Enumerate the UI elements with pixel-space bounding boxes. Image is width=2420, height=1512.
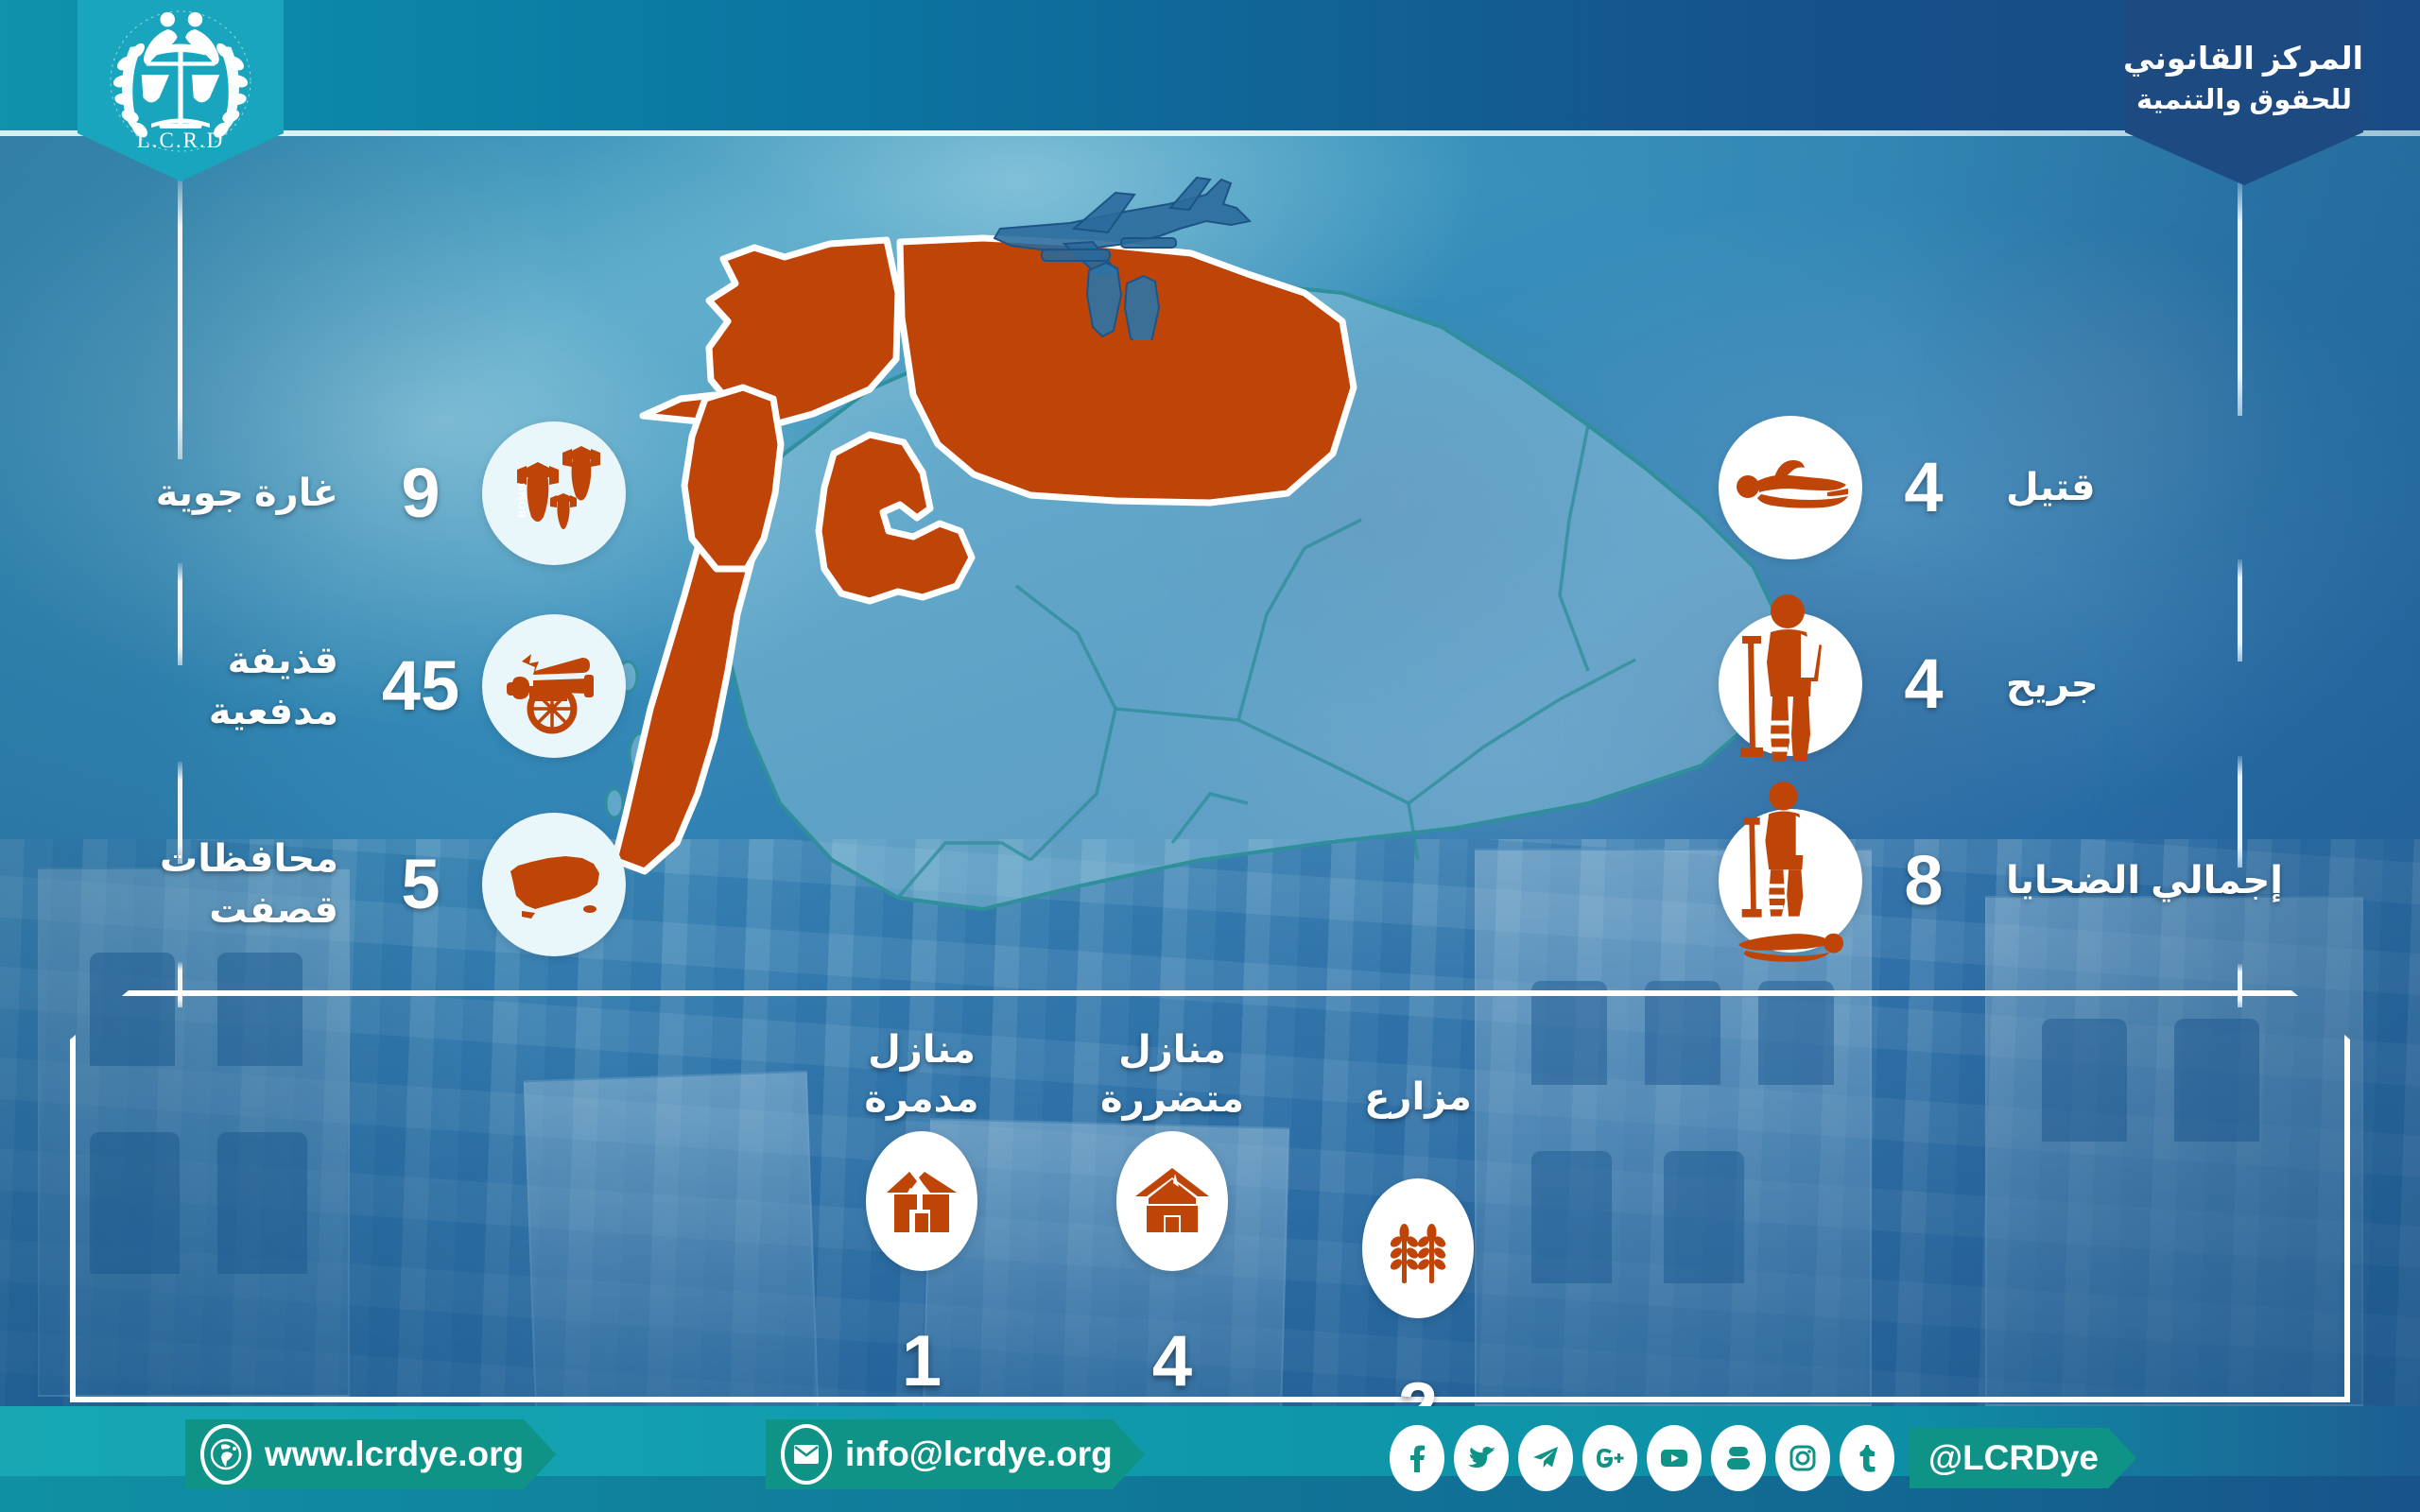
email-tag[interactable]: info@lcrdye.org	[766, 1419, 1145, 1489]
stat-label-total-victims: إجمالي الضحايا	[2006, 855, 2318, 906]
website-tag[interactable]: www.lcrdye.org	[185, 1419, 556, 1489]
stat-airstrikes[interactable]: BOMB 9 غارة جوية	[102, 421, 626, 565]
destroyed-house-icon-circle	[866, 1131, 977, 1271]
stat-label-airstrikes: غارة جوية	[102, 468, 338, 519]
stat-label-killed: قتيل	[2006, 462, 2318, 513]
infographic-root: انتهاكات وجرائم التحالف السعودي في اليمن…	[0, 0, 2420, 1512]
org-name-line1: المركز القانوني	[2125, 40, 2363, 77]
damage-damaged-homes[interactable]: منازل متضررة 4	[1049, 1025, 1295, 1402]
stat-value-total-victims: 8	[1862, 846, 1985, 916]
wheat-farm-icon	[1377, 1208, 1459, 1289]
stat-governorates-bombed[interactable]: 5 محافظات قصفت	[102, 813, 626, 956]
yemen-map-icon-circle	[482, 813, 626, 956]
stat-label-artillery: قذيفة مدفعية	[102, 635, 338, 737]
wheat-farm-icon-circle	[1362, 1178, 1474, 1318]
damage-destroyed-homes[interactable]: منازل مدمرة 1	[799, 1025, 1045, 1402]
dead-body-icon	[1729, 436, 1852, 540]
damage-value-destroyed: 1	[799, 1320, 1045, 1402]
connector-line-left-top	[178, 176, 182, 459]
tumblr-icon[interactable]	[1840, 1425, 1894, 1491]
total-victims-icon-circle	[1719, 809, 1862, 953]
damage-label-farms: مزارع	[1295, 1073, 1541, 1175]
cannon-icon	[501, 633, 607, 739]
fighter-jet-icon	[983, 170, 1267, 340]
google-plus-icon[interactable]	[1582, 1425, 1637, 1491]
damage-value-damaged: 4	[1049, 1320, 1295, 1402]
stat-value-artillery: 45	[359, 651, 482, 721]
footer-bar: www.lcrdye.org info@lcrdye.org	[0, 1406, 2420, 1512]
stat-value-airstrikes: 9	[359, 458, 482, 528]
social-handle-tag[interactable]: @LCRDye	[1910, 1428, 2136, 1488]
stat-value-killed: 4	[1862, 453, 1985, 523]
social-links: @LCRDye	[1390, 1425, 2136, 1491]
cannon-icon-circle	[482, 614, 626, 758]
twitter-icon[interactable]	[1454, 1425, 1509, 1491]
destroyed-house-icon	[881, 1160, 962, 1242]
svg-text:BOMB: BOMB	[517, 482, 528, 518]
bomb-icon: BOMB	[502, 441, 606, 545]
damage-label-destroyed: منازل مدمرة	[799, 1025, 1045, 1127]
envelope-icon	[781, 1424, 832, 1485]
header-bar	[0, 0, 2420, 130]
connector-line-right-top	[2238, 180, 2242, 416]
stat-total-victims[interactable]: 8 إجمالي الضحايا	[1719, 809, 2318, 953]
stat-artillery-shells[interactable]: 45 قذيفة مدفعية	[102, 614, 626, 758]
stat-killed[interactable]: 4 قتيل	[1719, 416, 2318, 559]
dead-body-icon-circle	[1719, 416, 1862, 559]
social-handle-text: @LCRDye	[1928, 1438, 2099, 1478]
blogger-icon[interactable]	[1711, 1425, 1766, 1491]
damaged-house-icon	[1132, 1160, 1213, 1242]
bomb-icon-circle: BOMB	[482, 421, 626, 565]
telegram-icon[interactable]	[1518, 1425, 1573, 1491]
email-text: info@lcrdye.org	[845, 1435, 1113, 1474]
injured-person-icon-circle	[1719, 612, 1862, 756]
damage-farms[interactable]: مزارع	[1295, 1073, 1541, 1450]
damaged-house-icon-circle	[1116, 1131, 1228, 1271]
stat-injured[interactable]: 4 جريح	[1719, 612, 2318, 756]
header-underline	[0, 130, 2420, 136]
stat-value-governorates: 5	[359, 850, 482, 919]
org-name-line2: للحقوق والتنمية	[2125, 83, 2363, 116]
facebook-icon[interactable]	[1390, 1425, 1444, 1491]
instagram-icon[interactable]	[1775, 1425, 1830, 1491]
injured-person-icon	[1720, 591, 1861, 770]
stat-label-injured: جريح	[2006, 659, 2318, 710]
stat-value-injured: 4	[1862, 649, 1985, 719]
yemen-map-icon	[503, 833, 605, 936]
total-victims-icon	[1719, 775, 1862, 973]
website-text: www.lcrdye.org	[265, 1435, 524, 1474]
globe-icon	[200, 1424, 251, 1485]
youtube-icon[interactable]	[1647, 1425, 1702, 1491]
stat-label-governorates: محافظات قصفت	[102, 833, 338, 936]
damage-label-damaged: منازل متضررة	[1049, 1025, 1295, 1127]
